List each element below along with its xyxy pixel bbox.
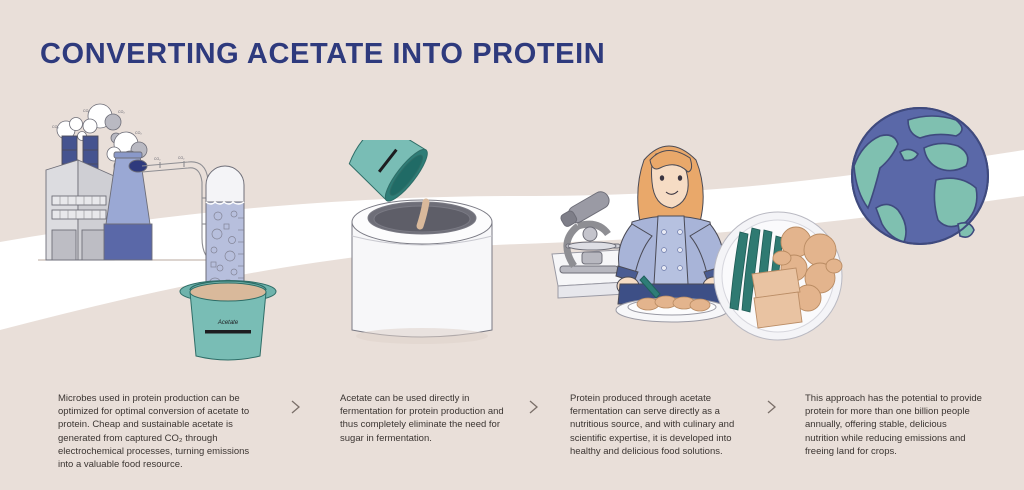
infographic-canvas: CONVERTING ACETATE INTO PROTEIN CO₂ CO₂ … — [0, 0, 1024, 490]
caption-impact: This approach has the potential to provi… — [805, 392, 983, 458]
svg-text:CO₂: CO₂ — [83, 109, 90, 113]
factory-bioreactor-scene: CO₂ CO₂ CO₂ CO₂ CO₂ — [38, 98, 283, 364]
chef-figure — [616, 146, 726, 304]
caption-fermentation: Acetate can be used directly in fermenta… — [340, 392, 520, 445]
chevron-right-icon — [289, 398, 303, 416]
svg-text:CO₂: CO₂ — [178, 156, 185, 160]
page-title: CONVERTING ACETATE INTO PROTEIN — [40, 38, 605, 71]
globe-scene — [840, 96, 1000, 256]
svg-text:CO₂: CO₂ — [135, 131, 142, 135]
cooling-tower — [104, 152, 152, 260]
caption-food: Protein produced through acetate ferment… — [570, 392, 750, 458]
chevron-right-icon — [765, 398, 779, 416]
svg-text:CO₂: CO₂ — [52, 125, 59, 129]
chef-microscope-scene — [548, 126, 848, 361]
svg-text:CO₂: CO₂ — [154, 157, 161, 161]
chevron-right-icon — [527, 398, 541, 416]
caption-microbes: Microbes used in protein production can … — [58, 392, 263, 471]
protein-cubes — [752, 268, 802, 328]
fermentation-tank-scene — [330, 140, 515, 365]
caption-row: Microbes used in protein production can … — [0, 392, 1024, 490]
pouring-acetate-bucket — [342, 140, 433, 206]
acetate-bucket-label: Acetate — [217, 320, 239, 326]
svg-text:CO₂: CO₂ — [118, 110, 125, 114]
acetate-bucket: Acetate — [180, 281, 276, 361]
food-plate — [714, 212, 842, 340]
